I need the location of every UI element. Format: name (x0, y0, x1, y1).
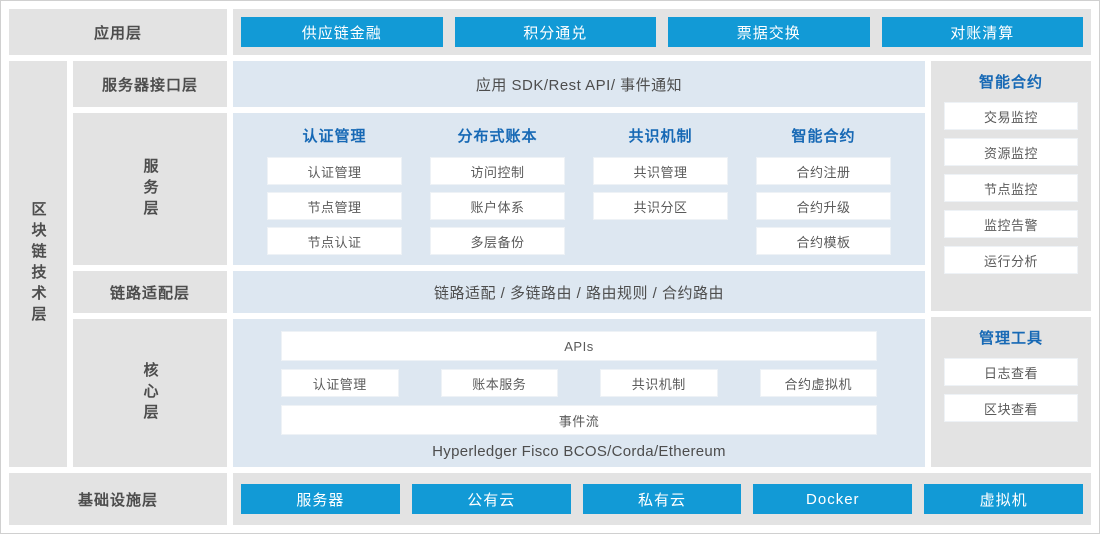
link-adaptation-layer-row: 链路适配层 链路适配 / 多链路由 / 路由规则 / 合约路由 (73, 271, 925, 313)
service-column-heading: 共识机制 (593, 125, 728, 146)
service-layer-row: 服务层 认证管理 认证管理 节点管理 节点认证 分布式账本 访问控制 账户体系 (73, 113, 925, 265)
sidebar-item-block-viewer[interactable]: 区块查看 (944, 394, 1078, 422)
application-layer-items: 供应链金融 积分通兑 票据交换 对账清算 (233, 9, 1091, 55)
sidebar-item-log-viewer[interactable]: 日志查看 (944, 358, 1078, 386)
infra-item-private-cloud[interactable]: 私有云 (583, 484, 742, 514)
core-layer-label: 核心层 (73, 319, 227, 467)
sidebar-panel-smart-contract: 智能合约 交易监控 资源监控 节点监控 监控告警 运行分析 (931, 61, 1091, 311)
service-item-consensus-partition[interactable]: 共识分区 (593, 192, 728, 220)
sidebar: 智能合约 交易监控 资源监控 节点监控 监控告警 运行分析 管理工具 日志查看 … (931, 61, 1091, 467)
sidebar-item-node-monitoring[interactable]: 节点监控 (944, 174, 1078, 202)
core-module-contract-virtual-machine[interactable]: 合约虚拟机 (760, 369, 878, 397)
service-item-contract-template[interactable]: 合约模板 (756, 227, 891, 255)
infra-item-server[interactable]: 服务器 (241, 484, 400, 514)
core-layer-content: APIs 认证管理 账本服务 共识机制 合约虚拟机 事件流 Hyperledge… (233, 319, 925, 467)
service-column-consensus-mechanism: 共识机制 共识管理 共识分区 (593, 125, 728, 251)
service-column-heading: 认证管理 (267, 125, 402, 146)
service-item-access-control[interactable]: 访问控制 (430, 157, 565, 185)
application-layer-row: 应用层 供应链金融 积分通兑 票据交换 对账清算 (9, 9, 1091, 55)
infra-item-docker[interactable]: Docker (753, 484, 912, 514)
service-item-contract-registration[interactable]: 合约注册 (756, 157, 891, 185)
link-adaptation-layer-label: 链路适配层 (73, 271, 227, 313)
server-interface-layer-row: 服务器接口层 应用 SDK/Rest API/ 事件通知 (73, 61, 925, 107)
service-item-auth-management[interactable]: 认证管理 (267, 157, 402, 185)
sidebar-panel-title: 智能合约 (979, 71, 1043, 92)
core-module-auth-management[interactable]: 认证管理 (281, 369, 399, 397)
service-layer-label: 服务层 (73, 113, 227, 265)
service-layer-content: 认证管理 认证管理 节点管理 节点认证 分布式账本 访问控制 账户体系 多层备份 (233, 113, 925, 265)
service-column-heading: 智能合约 (756, 125, 891, 146)
infrastructure-layer-label: 基础设施层 (9, 473, 227, 525)
core-module-ledger-service[interactable]: 账本服务 (441, 369, 559, 397)
core-apis-box[interactable]: APIs (281, 331, 877, 361)
sidebar-panel-title: 管理工具 (979, 327, 1043, 348)
service-item-consensus-management[interactable]: 共识管理 (593, 157, 728, 185)
architecture-diagram: 应用层 供应链金融 积分通兑 票据交换 对账清算 区块链技术层 服务器接口层 应… (0, 0, 1100, 534)
server-interface-layer-label: 服务器接口层 (73, 61, 227, 107)
sidebar-item-resource-monitoring[interactable]: 资源监控 (944, 138, 1078, 166)
app-item-reconciliation-settlement[interactable]: 对账清算 (882, 17, 1084, 47)
core-event-stream-box[interactable]: 事件流 (281, 405, 877, 435)
service-item-multilayer-backup[interactable]: 多层备份 (430, 227, 565, 255)
app-item-points-exchange[interactable]: 积分通兑 (455, 17, 657, 47)
infrastructure-layer-items: 服务器 公有云 私有云 Docker 虚拟机 (233, 473, 1091, 525)
server-interface-layer-content: 应用 SDK/Rest API/ 事件通知 (233, 61, 925, 107)
core-module-consensus-mechanism[interactable]: 共识机制 (600, 369, 718, 397)
sidebar-item-operation-analysis[interactable]: 运行分析 (944, 246, 1078, 274)
link-adaptation-layer-content: 链路适配 / 多链路由 / 路由规则 / 合约路由 (233, 271, 925, 313)
sidebar-panel-management-tools: 管理工具 日志查看 区块查看 (931, 317, 1091, 467)
app-item-bill-exchange[interactable]: 票据交换 (668, 17, 870, 47)
service-column-auth-management: 认证管理 认证管理 节点管理 节点认证 (267, 125, 402, 251)
blockchain-tech-layer-label: 区块链技术层 (9, 61, 67, 467)
sidebar-item-transaction-monitoring[interactable]: 交易监控 (944, 102, 1078, 130)
app-item-supply-chain-finance[interactable]: 供应链金融 (241, 17, 443, 47)
service-item-node-authentication[interactable]: 节点认证 (267, 227, 402, 255)
service-item-node-management[interactable]: 节点管理 (267, 192, 402, 220)
service-item-contract-upgrade[interactable]: 合约升级 (756, 192, 891, 220)
service-item-account-system[interactable]: 账户体系 (430, 192, 565, 220)
blockchain-tech-layer-row: 区块链技术层 服务器接口层 应用 SDK/Rest API/ 事件通知 服务层 … (9, 61, 1091, 467)
core-modules-row: 认证管理 账本服务 共识机制 合约虚拟机 (281, 369, 877, 397)
infra-item-virtual-machine[interactable]: 虚拟机 (924, 484, 1083, 514)
application-layer-label: 应用层 (9, 9, 227, 55)
service-column-distributed-ledger: 分布式账本 访问控制 账户体系 多层备份 (430, 125, 565, 251)
infra-item-public-cloud[interactable]: 公有云 (412, 484, 571, 514)
sidebar-item-monitoring-alert[interactable]: 监控告警 (944, 210, 1078, 238)
core-layer-row: 核心层 APIs 认证管理 账本服务 共识机制 合约虚拟机 事件流 Hyperl… (73, 319, 925, 467)
service-column-heading: 分布式账本 (430, 125, 565, 146)
service-column-smart-contract: 智能合约 合约注册 合约升级 合约模板 (756, 125, 891, 251)
infrastructure-layer-row: 基础设施层 服务器 公有云 私有云 Docker 虚拟机 (9, 473, 1091, 525)
blockchain-tech-layer-stack: 服务器接口层 应用 SDK/Rest API/ 事件通知 服务层 认证管理 认证… (73, 61, 925, 467)
core-layer-platforms: Hyperledger Fisco BCOS/Corda/Ethereum (281, 443, 877, 460)
